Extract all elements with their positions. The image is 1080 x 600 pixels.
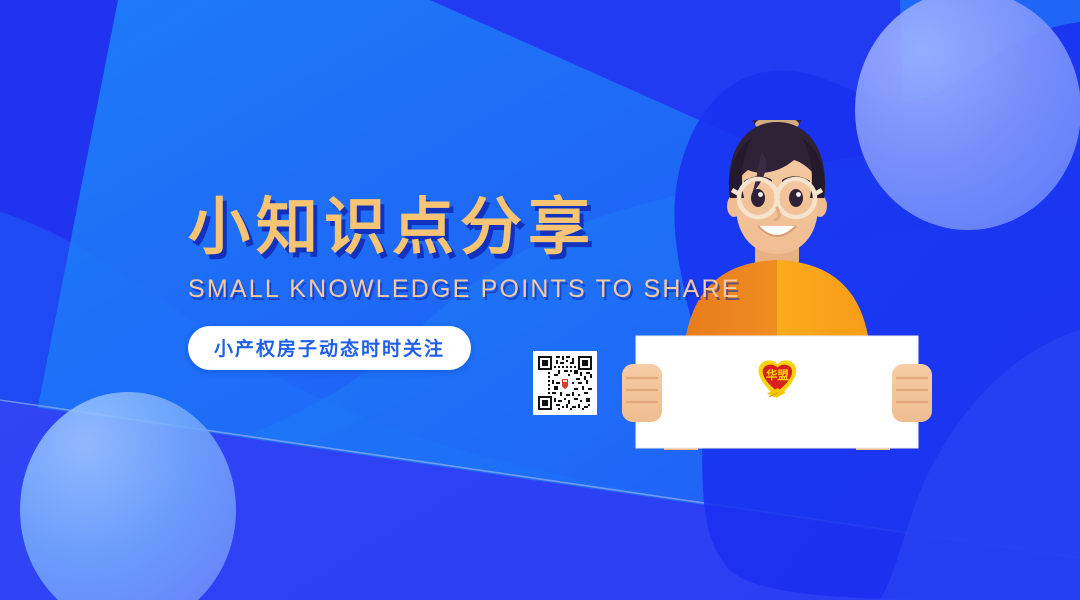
eye-right <box>789 189 803 207</box>
page-subtitle: SMALL KNOWLEDGE POINTS TO SHARE <box>188 275 658 304</box>
eye-left <box>751 189 765 207</box>
qr-center-logo <box>560 376 570 390</box>
held-board: 华盟 <box>636 336 918 448</box>
headline-block: 小知识点分享 SMALL KNOWLEDGE POINTS TO SHARE 小… <box>188 192 658 370</box>
page-title: 小知识点分享 <box>188 192 658 261</box>
promo-banner: 小知识点分享 SMALL KNOWLEDGE POINTS TO SHARE 小… <box>0 0 1080 600</box>
hand-right <box>892 364 932 422</box>
qr-code-image <box>536 354 594 412</box>
qr-code[interactable] <box>533 351 597 415</box>
tagline-pill[interactable]: 小产权房子动态时时关注 <box>188 326 471 370</box>
hand-left <box>622 364 662 422</box>
logo-text: 华盟 <box>766 368 790 382</box>
head <box>727 120 827 254</box>
